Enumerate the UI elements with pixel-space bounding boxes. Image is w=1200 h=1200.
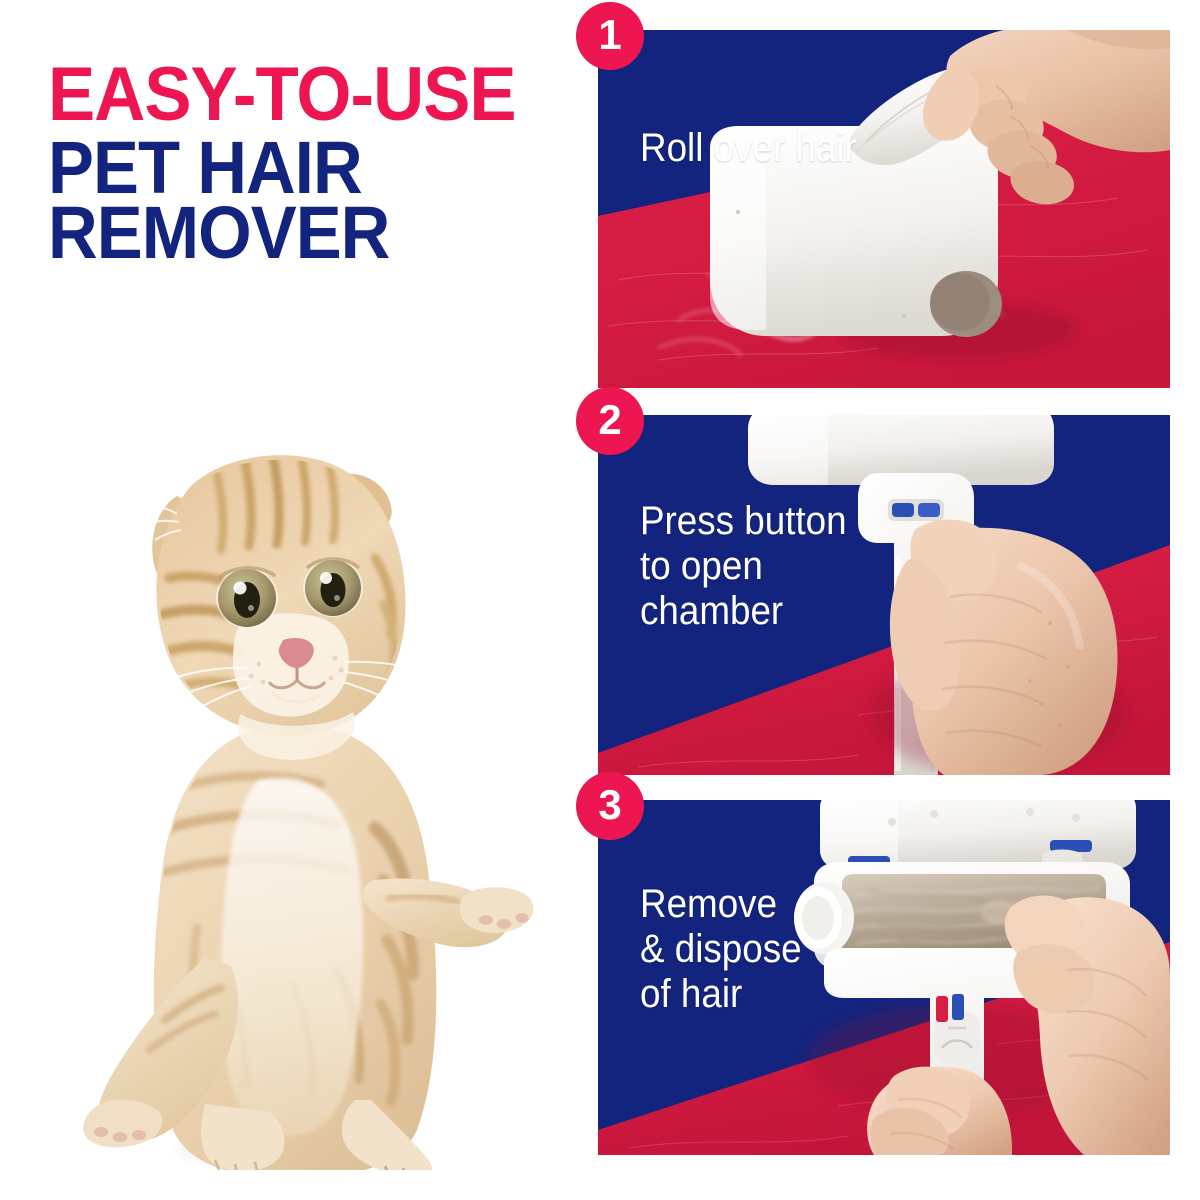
step-caption-1: Roll over hair bbox=[640, 126, 857, 171]
step-panel-2: 2 Press button to open chamber bbox=[598, 415, 1170, 775]
step-caption-2: Press button to open chamber bbox=[640, 499, 847, 633]
headline-line-1: EASY-TO-USE bbox=[48, 62, 532, 129]
cat-chest bbox=[221, 778, 363, 1136]
infographic-canvas: EASY-TO-USE PET HAIR REMOVER bbox=[0, 0, 1200, 1200]
step-number-badge-1: 1 bbox=[576, 2, 644, 70]
headline-line-3: REMOVER bbox=[48, 200, 532, 265]
step-caption-3: Remove & dispose of hair bbox=[640, 882, 802, 1016]
page-title: EASY-TO-USE PET HAIR REMOVER bbox=[48, 62, 568, 265]
cat-right-paw bbox=[460, 887, 534, 933]
cat-left-hindfoot bbox=[201, 1104, 285, 1170]
hero-cat-image bbox=[45, 428, 545, 1170]
step-number-badge-3: 3 bbox=[576, 772, 644, 840]
cat-illustration bbox=[45, 428, 545, 1170]
step-panel-1: 1 Roll over hair bbox=[598, 30, 1170, 388]
roll-over-hair-scene bbox=[598, 30, 1170, 388]
step-number-badge-2: 2 bbox=[576, 387, 644, 455]
step-panel-3: 3 Remove & dispose of hair bbox=[598, 800, 1170, 1155]
step-1-image bbox=[598, 30, 1170, 388]
